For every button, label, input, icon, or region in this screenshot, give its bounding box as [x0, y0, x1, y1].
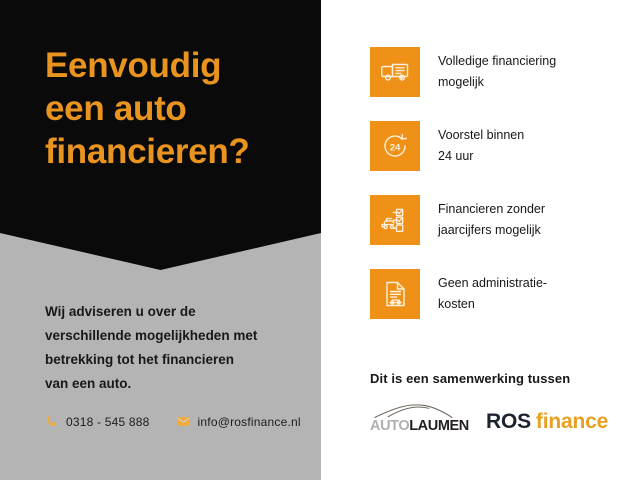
- feature-label: Financieren zonder jaarcijfers mogelijk: [438, 199, 545, 241]
- feature-icon-tile: 24: [370, 121, 420, 171]
- delivery-truck-check-icon: [379, 56, 411, 88]
- feature-item-geen-administratiekosten: Geen administratie- kosten: [370, 269, 630, 319]
- car-checklist-icon: [379, 204, 411, 236]
- phone-number: 0318 - 545 888: [66, 415, 150, 429]
- feature-label: Geen administratie- kosten: [438, 273, 547, 315]
- contact-phone[interactable]: 0318 - 545 888: [44, 414, 150, 429]
- feature-item-financieren-zonder-jaarcijfers: Financieren zonder jaarcijfers mogelijk: [370, 195, 630, 245]
- feature-label-line-2: mogelijk: [438, 72, 556, 93]
- headline-line-2: een auto: [45, 87, 307, 130]
- feature-icon-tile: [370, 47, 420, 97]
- document-car-icon: [379, 278, 411, 310]
- feature-label-line-2: jaarcijfers mogelijk: [438, 220, 545, 241]
- feature-label-line-2: 24 uur: [438, 146, 524, 167]
- feature-label: Volledige financiering mogelijk: [438, 51, 556, 93]
- auto-laumen-part1: AUTO: [370, 418, 409, 434]
- auto-laumen-logo[interactable]: AUTOLAUMEN: [370, 403, 458, 435]
- body-copy-line-1: Wij adviseren u over de: [45, 300, 305, 324]
- feature-icon-tile: [370, 195, 420, 245]
- contact-email[interactable]: info@rosfinance.nl: [176, 414, 301, 429]
- clock-24-badge: 24: [390, 142, 401, 153]
- feature-label-line-1: Volledige financiering: [438, 51, 556, 72]
- feature-label-line-2: kosten: [438, 294, 547, 315]
- clock-24-hour-icon: 24: [379, 130, 411, 162]
- auto-laumen-part2: LAUMEN: [409, 418, 469, 434]
- headline-line-1: Eenvoudig: [45, 44, 307, 87]
- right-panel: Volledige financiering mogelijk 24: [321, 0, 640, 480]
- headline-line-3: financieren?: [45, 130, 307, 173]
- feature-icon-tile: [370, 269, 420, 319]
- contact-row: 0318 - 545 888 info@rosfinance.nl: [44, 414, 301, 429]
- auto-laumen-wordmark: AUTOLAUMEN: [370, 418, 469, 434]
- email-address: info@rosfinance.nl: [198, 415, 301, 429]
- advertisement-banner: Eenvoudig een auto financieren? Wij advi…: [0, 0, 640, 480]
- car-silhouette-icon: [374, 403, 456, 419]
- partner-logo-row: AUTOLAUMEN ROSfinance: [370, 403, 635, 435]
- feature-item-voorstel-binnen-24-uur: 24 Voorstel binnen 24 uur: [370, 121, 630, 171]
- ros-finance-part2: finance: [536, 410, 608, 433]
- feature-label-line-1: Voorstel binnen: [438, 125, 524, 146]
- body-copy-line-2: verschillende mogelijkheden met: [45, 324, 305, 348]
- phone-icon: [44, 414, 59, 429]
- envelope-icon: [176, 414, 191, 429]
- feature-label: Voorstel binnen 24 uur: [438, 125, 524, 167]
- body-copy-line-4: van een auto.: [45, 372, 305, 396]
- body-copy: Wij adviseren u over de verschillende mo…: [45, 300, 305, 396]
- feature-label-line-1: Financieren zonder: [438, 199, 545, 220]
- partners-section: Dit is een samenwerking tussen AUTOLAUME…: [370, 371, 635, 435]
- feature-list: Volledige financiering mogelijk 24: [370, 47, 630, 343]
- feature-item-volledige-financiering: Volledige financiering mogelijk: [370, 47, 630, 97]
- feature-label-line-1: Geen administratie-: [438, 273, 547, 294]
- ros-finance-part1: ROS: [486, 410, 531, 433]
- headline: Eenvoudig een auto financieren?: [45, 44, 307, 173]
- body-copy-line-3: betrekking tot het financieren: [45, 348, 305, 372]
- left-panel: Eenvoudig een auto financieren? Wij advi…: [0, 0, 321, 480]
- partners-title: Dit is een samenwerking tussen: [370, 371, 635, 386]
- ros-finance-logo[interactable]: ROSfinance: [486, 410, 608, 435]
